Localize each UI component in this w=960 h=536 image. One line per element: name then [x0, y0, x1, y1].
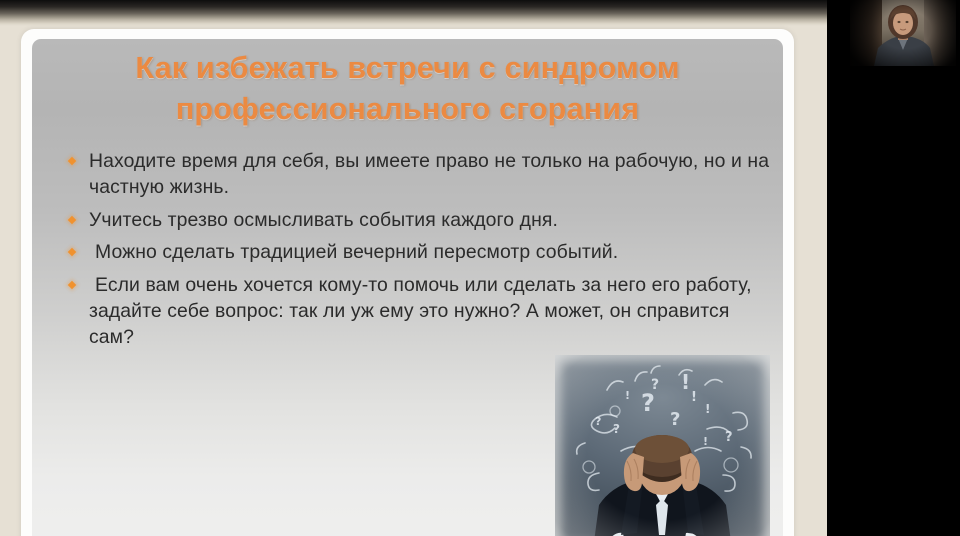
list-item: Если вам очень хочется кому-то помочь ил… [56, 272, 772, 351]
slide-title: Как избежать встречи с синдромом професс… [32, 48, 783, 129]
video-stage: Как избежать встречи с синдромом професс… [0, 0, 960, 536]
list-item-text: Учитесь трезво осмысливать события каждо… [89, 207, 772, 233]
list-item-text: Можно сделать традицией вечерний пересмо… [89, 239, 772, 265]
list-item: Учитесь трезво осмысливать события каждо… [56, 207, 772, 233]
bullet-marker-icon [68, 280, 76, 288]
slide-bullet-list: Находите время для себя, вы имеете право… [56, 148, 772, 357]
participant-video-tile[interactable] [850, 0, 956, 66]
webcam-vignette [850, 0, 956, 66]
bullet-marker-icon [68, 248, 76, 256]
slide-title-line-2: профессионального сгорания [32, 89, 783, 130]
slide-content-panel: Как избежать встречи с синдромом професс… [32, 39, 783, 536]
shared-slide-surface: Как избежать встречи с синдромом професс… [0, 0, 827, 536]
list-item-text: Находите время для себя, вы имеете право… [89, 148, 772, 201]
stressed-person-photo: ? ? ? ? ! ! ! ! ? ? ? ! [555, 355, 770, 536]
bullet-marker-icon [68, 157, 76, 165]
list-item-text: Если вам очень хочется кому-то помочь ил… [89, 272, 772, 351]
photo-vignette [555, 355, 770, 536]
bullet-marker-icon [68, 216, 76, 224]
top-shade-gradient [0, 0, 827, 26]
list-item: Можно сделать традицией вечерний пересмо… [56, 239, 772, 265]
slide-title-line-1: Как избежать встречи с синдромом [32, 48, 783, 89]
screen-share-view: Как избежать встречи с синдромом професс… [0, 0, 960, 536]
list-item: Находите время для себя, вы имеете право… [56, 148, 772, 201]
